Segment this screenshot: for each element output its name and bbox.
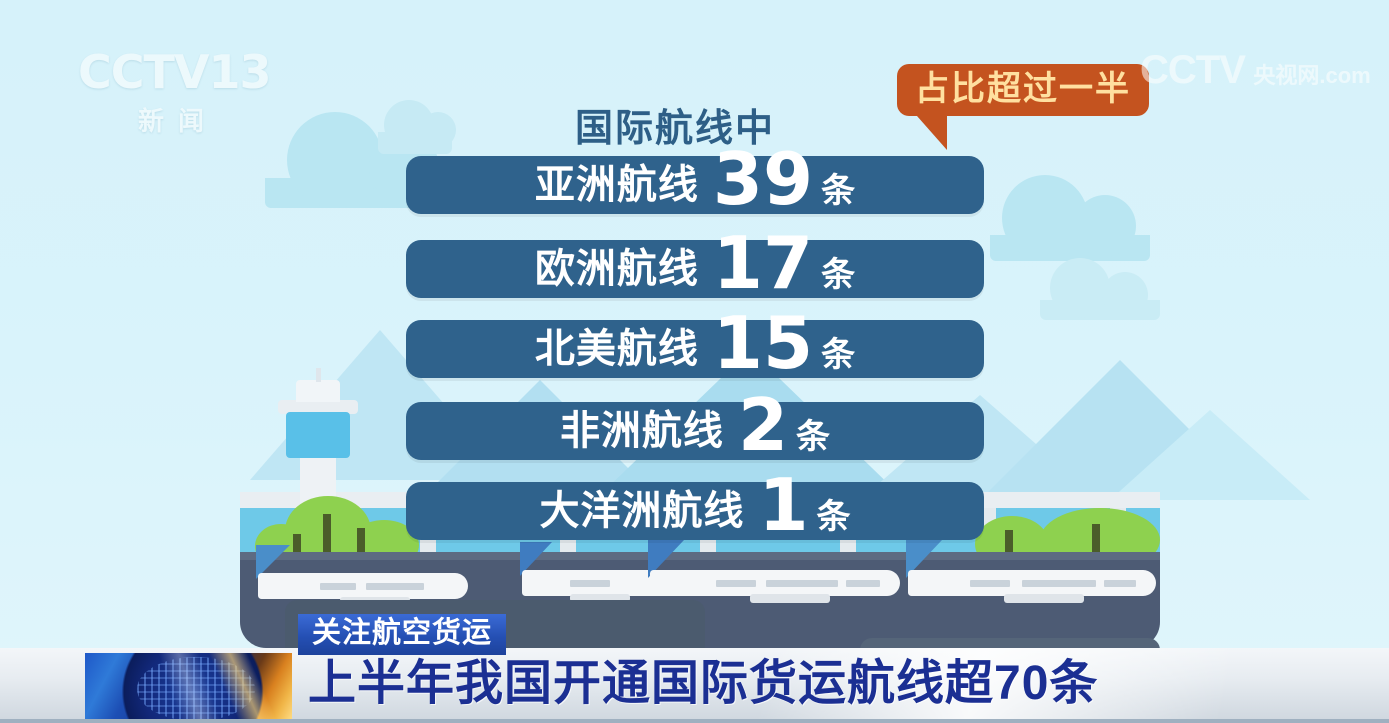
airplane-icon: [640, 540, 910, 590]
bar-label: 亚洲航线: [535, 156, 699, 214]
bar-value: 39: [713, 150, 813, 208]
bar-unit: 条: [821, 162, 855, 220]
bar-content: 大洋洲航线 1 条: [406, 482, 984, 540]
bar-content: 北美航线 15 条: [406, 320, 984, 378]
bar-value: 2: [738, 396, 788, 454]
bar-content: 非洲航线 2 条: [406, 402, 984, 460]
cloud-icon: [1040, 300, 1160, 320]
bar-content: 亚洲航线 39 条: [406, 156, 984, 214]
callout-text: 占比超过一半: [915, 72, 1131, 106]
topic-tag: 关注航空货运: [298, 614, 506, 655]
bar-row: 亚洲航线 39 条: [406, 156, 984, 214]
bar-content: 欧洲航线 17 条: [406, 240, 984, 298]
bar-unit: 条: [821, 246, 855, 304]
bar-label: 北美航线: [535, 320, 699, 378]
control-tower-cap: [296, 380, 340, 402]
control-tower-glass: [286, 412, 350, 458]
news-headline: 上半年我国开通国际货运航线超70条: [308, 655, 1098, 713]
bar-row: 欧洲航线 17 条: [406, 240, 984, 298]
bar-row: 非洲航线 2 条: [406, 402, 984, 460]
cctv-logo-text: CCTV13: [78, 45, 278, 99]
lower-third-rail: [0, 719, 1389, 723]
control-tower-antenna: [316, 368, 321, 382]
cctv-site-logo: CCTV: [1140, 48, 1245, 92]
globe-swoosh: [85, 653, 292, 723]
broadcast-screen: 国际航线中 占比超过一半 亚洲航线 39 条 欧洲航线 17 条 北美航线 15…: [0, 0, 1389, 723]
bar-unit: 条: [796, 408, 830, 466]
bar-value: 17: [713, 234, 813, 292]
cctv-channel-watermark: CCTV13 新闻: [78, 45, 278, 145]
topic-tag-label: 关注航空货运: [312, 619, 492, 648]
cctv-channel-name: 新闻: [78, 101, 278, 138]
airplane-icon: [250, 545, 480, 591]
news-globe-thumbnail: [85, 653, 292, 723]
cctv-site-name: 央视网.com: [1253, 63, 1370, 88]
bar-value: 1: [758, 476, 808, 534]
mountain-shape: [1110, 410, 1310, 500]
cctv-site-watermark: CCTV 央视网.com: [1140, 48, 1371, 93]
airplane-icon: [900, 540, 1165, 590]
bar-label: 大洋洲航线: [539, 482, 744, 540]
bar-unit: 条: [821, 326, 855, 384]
bar-value: 15: [713, 314, 813, 372]
bar-label: 欧洲航线: [535, 240, 699, 298]
bar-row: 大洋洲航线 1 条: [406, 482, 984, 540]
callout-tail: [917, 116, 947, 150]
cloud-icon: [378, 132, 452, 154]
bar-unit: 条: [817, 488, 851, 546]
cloud-icon: [990, 235, 1150, 261]
bar-row: 北美航线 15 条: [406, 320, 984, 378]
callout-badge: 占比超过一半: [897, 64, 1149, 116]
bar-label: 非洲航线: [560, 402, 724, 460]
